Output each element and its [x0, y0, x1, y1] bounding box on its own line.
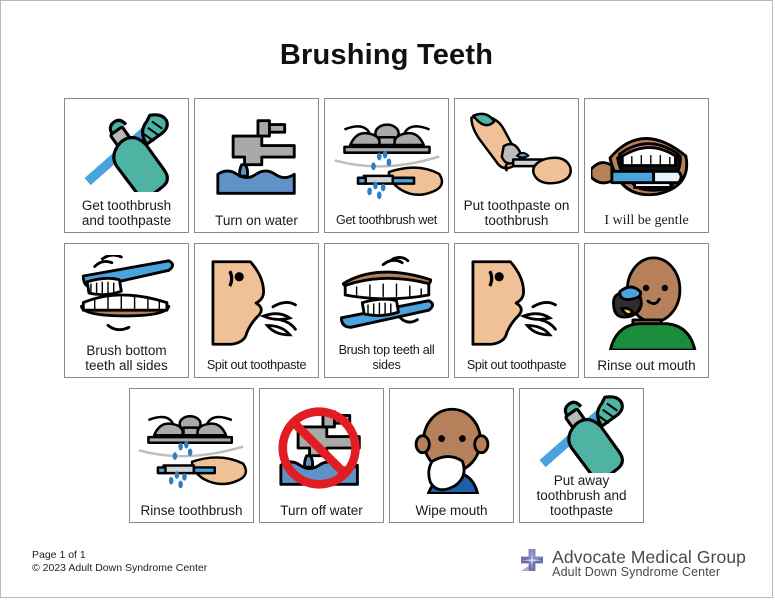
logo-main-text: Advocate Medical Group [552, 548, 746, 566]
card-caption: Spit out toothpaste [197, 358, 316, 375]
card-caption: Rinse out mouth [587, 358, 706, 375]
card-rinse-out-mouth[interactable]: Rinse out mouth [584, 243, 709, 378]
card-brush-bottom-teeth-all-sides[interactable]: Brush bottom teeth all sides [64, 243, 189, 378]
card-i-will-be-gentle[interactable]: I will be gentle [584, 98, 709, 233]
person-holding-cup-icon [587, 247, 706, 358]
card-spit-out-toothpaste-2[interactable]: Spit out toothpaste [454, 243, 579, 378]
card-get-toothbrush-wet[interactable]: Get toothbrush wet [324, 98, 449, 233]
card-grid: Get toothbrush and toothpaste Turn on wa… [1, 98, 772, 533]
faucet-with-prohibition-sign-icon [262, 392, 381, 503]
card-caption: Turn on water [197, 213, 316, 230]
card-turn-on-water[interactable]: Turn on water [194, 98, 319, 233]
advocate-cross-icon [519, 548, 545, 579]
logo-text: Advocate Medical Group Adult Down Syndro… [552, 548, 746, 580]
card-spit-out-toothpaste-1[interactable]: Spit out toothpaste [194, 243, 319, 378]
person-wiping-mouth-with-tissue-icon [392, 392, 511, 503]
hand-rinsing-toothbrush-under-tap-icon [132, 392, 251, 503]
card-caption: Brush bottom teeth all sides [67, 343, 186, 375]
card-brush-top-teeth-all-sides[interactable]: Brush top teeth all sides [324, 243, 449, 378]
logo-sub-text: Adult Down Syndrome Center [552, 566, 746, 579]
hands-squeezing-paste-onto-brush-icon [457, 102, 576, 198]
card-row-3: Rinse toothbrush Turn off water Wipe mou… [1, 388, 772, 523]
card-rinse-toothbrush[interactable]: Rinse toothbrush [129, 388, 254, 523]
card-caption: Put away toothbrush and toothpaste [522, 473, 641, 520]
page-title: Brushing Teeth [1, 39, 772, 72]
toothpaste-tube-and-toothbrush-icon [67, 102, 186, 198]
brushing-bottom-teeth-icon [67, 247, 186, 343]
open-mouth-with-toothbrush-icon [587, 102, 706, 213]
card-caption: Brush top teeth all sides [327, 343, 446, 375]
brushing-top-teeth-icon [327, 247, 446, 343]
hand-holding-toothbrush-under-tap-icon [327, 102, 446, 213]
copyright-notice: © 2023 Adult Down Syndrome Center [32, 562, 207, 575]
faucet-running-water-icon [197, 102, 316, 213]
organization-logo: Advocate Medical Group Adult Down Syndro… [519, 548, 746, 580]
card-caption: I will be gentle [587, 213, 706, 230]
card-wipe-mouth[interactable]: Wipe mouth [389, 388, 514, 523]
card-get-toothbrush-and-toothpaste[interactable]: Get toothbrush and toothpaste [64, 98, 189, 233]
card-caption: Rinse toothbrush [132, 503, 251, 520]
card-caption: Get toothbrush and toothpaste [67, 198, 186, 230]
face-profile-spitting-icon [197, 247, 316, 358]
worksheet-page: Brushing Teeth Get toothbrush and toothp… [0, 0, 773, 598]
card-caption: Spit out toothpaste [457, 358, 576, 375]
card-caption: Put toothpaste on toothbrush [457, 198, 576, 230]
card-caption: Wipe mouth [392, 503, 511, 520]
card-put-toothpaste-on-toothbrush[interactable]: Put toothpaste on toothbrush [454, 98, 579, 233]
footer-left: Page 1 of 1 © 2023 Adult Down Syndrome C… [32, 549, 207, 575]
card-caption: Turn off water [262, 503, 381, 520]
card-caption: Get toothbrush wet [327, 213, 446, 230]
card-row-1: Get toothbrush and toothpaste Turn on wa… [1, 98, 772, 233]
face-profile-spitting-icon [457, 247, 576, 358]
card-row-2: Brush bottom teeth all sides Spit out to… [1, 243, 772, 378]
page-label: Page 1 of 1 [32, 549, 207, 562]
card-put-away-toothbrush-and-toothpaste[interactable]: Put away toothbrush and toothpaste [519, 388, 644, 523]
card-turn-off-water[interactable]: Turn off water [259, 388, 384, 523]
toothpaste-tube-and-toothbrush-icon [522, 392, 641, 473]
